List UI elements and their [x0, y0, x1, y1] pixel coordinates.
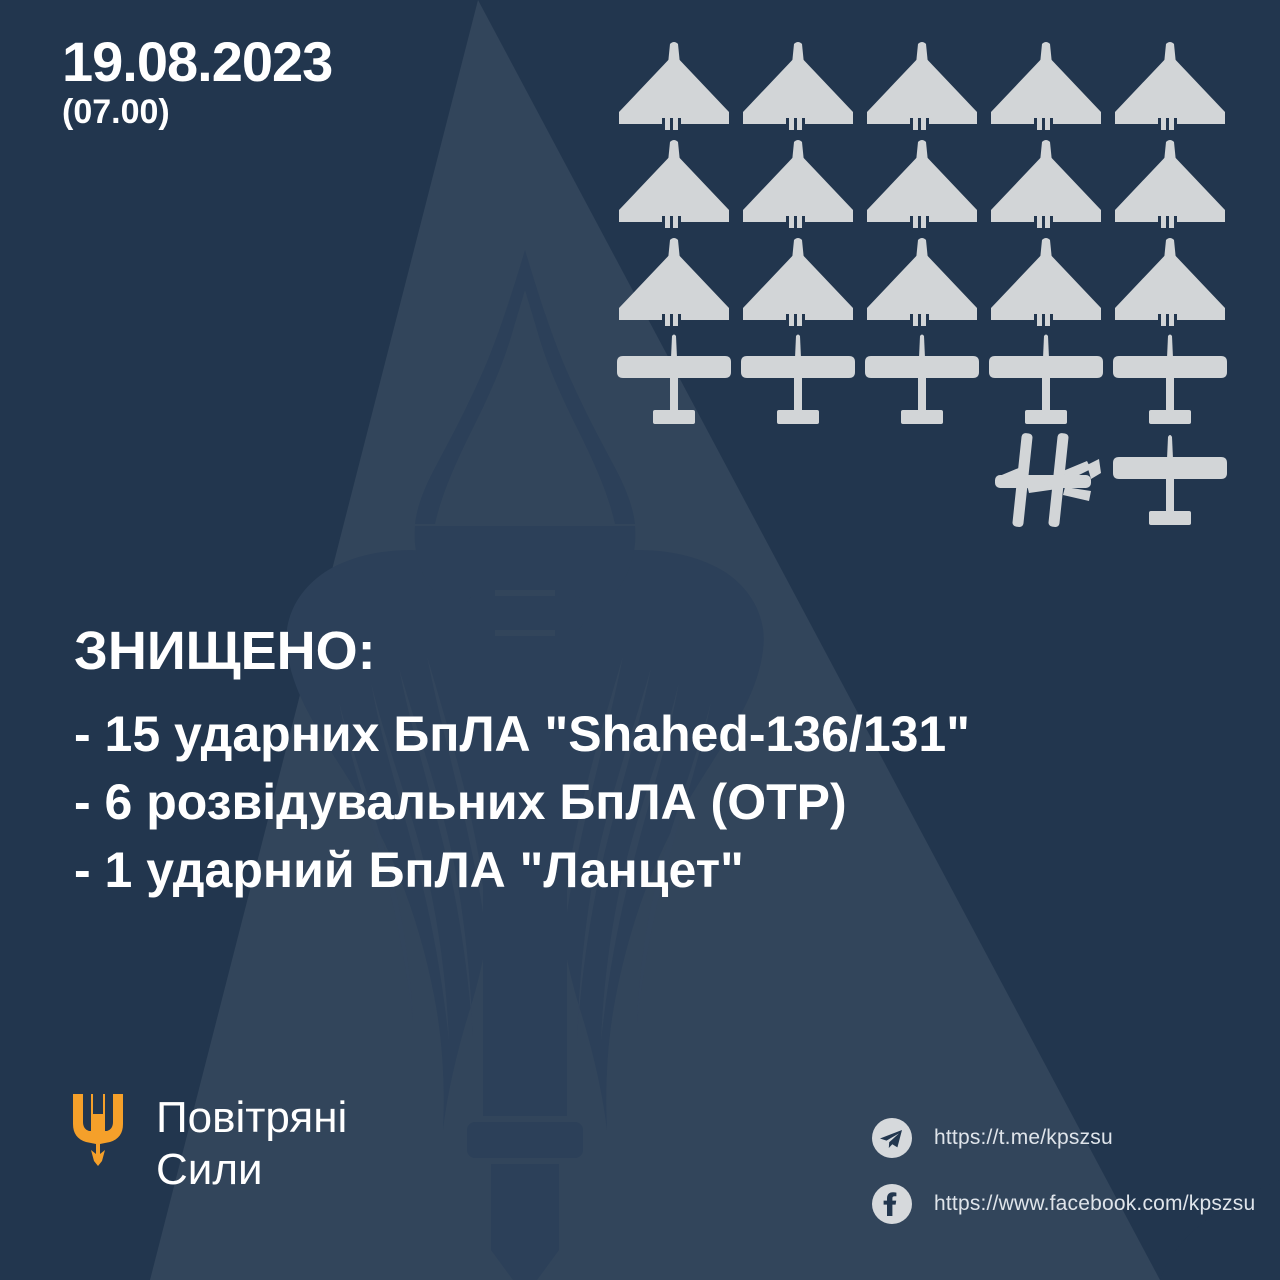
recon-drone-icon — [984, 334, 1108, 426]
recon-drone-icon — [1108, 431, 1232, 531]
shahed-drone-icon — [736, 40, 860, 132]
drone-row — [612, 132, 1232, 230]
report-headline: ЗНИЩЕНО: — [74, 620, 376, 682]
shahed-drone-icon — [984, 138, 1108, 230]
shahed-drone-icon — [860, 40, 984, 132]
shahed-drone-icon — [736, 236, 860, 328]
shahed-drone-icon — [612, 138, 736, 230]
shahed-drone-icon — [1108, 40, 1232, 132]
shahed-drone-icon — [1108, 138, 1232, 230]
social-link-telegram[interactable]: https://t.me/kpszsu — [872, 1112, 1255, 1164]
shahed-drone-icon — [860, 236, 984, 328]
facebook-icon[interactable] — [872, 1184, 912, 1224]
trident-icon — [72, 1092, 124, 1166]
list-item: - 15 ударних БпЛА "Shahed-136/131" — [74, 700, 1214, 768]
brand-line-2: Сили — [156, 1144, 347, 1196]
report-time: (07.00) — [62, 94, 332, 131]
telegram-icon[interactable] — [872, 1118, 912, 1158]
recon-drone-icon — [736, 334, 860, 426]
recon-drone-icon — [612, 334, 736, 426]
list-item: - 1 ударний БпЛА "Ланцет" — [74, 836, 1214, 904]
social-link-facebook[interactable]: https://www.facebook.com/kpszsu — [872, 1178, 1255, 1230]
telegram-url[interactable]: https://t.me/kpszsu — [934, 1126, 1113, 1150]
infographic-poster: 19.08.2023 (07.00) — [0, 0, 1280, 1280]
social-links: https://t.me/kpszsu https://www.facebook… — [872, 1112, 1255, 1244]
date-block: 19.08.2023 (07.00) — [62, 34, 332, 131]
shahed-drone-icon — [736, 138, 860, 230]
brand-name: Повітряні Сили — [156, 1092, 347, 1196]
recon-drone-icon — [860, 334, 984, 426]
shahed-drone-icon — [612, 236, 736, 328]
drone-icon-grid — [612, 34, 1232, 554]
recon-drone-icon — [1108, 334, 1232, 426]
drone-row — [612, 230, 1232, 328]
brand-block: Повітряні Сили — [72, 1092, 347, 1196]
brand-line-1: Повітряні — [156, 1092, 347, 1144]
drone-row — [612, 34, 1232, 132]
report-list: - 15 ударних БпЛА "Shahed-136/131" - 6 р… — [74, 700, 1214, 904]
list-item: - 6 розвідувальних БпЛА (ОТР) — [74, 768, 1214, 836]
report-date: 19.08.2023 — [62, 34, 332, 90]
drone-row — [612, 328, 1232, 426]
drone-row — [612, 426, 1232, 531]
shahed-drone-icon — [860, 138, 984, 230]
facebook-url[interactable]: https://www.facebook.com/kpszsu — [934, 1192, 1255, 1216]
shahed-drone-icon — [612, 40, 736, 132]
shahed-drone-icon — [984, 40, 1108, 132]
lancet-drone-icon — [984, 431, 1108, 531]
shahed-drone-icon — [984, 236, 1108, 328]
shahed-drone-icon — [1108, 236, 1232, 328]
